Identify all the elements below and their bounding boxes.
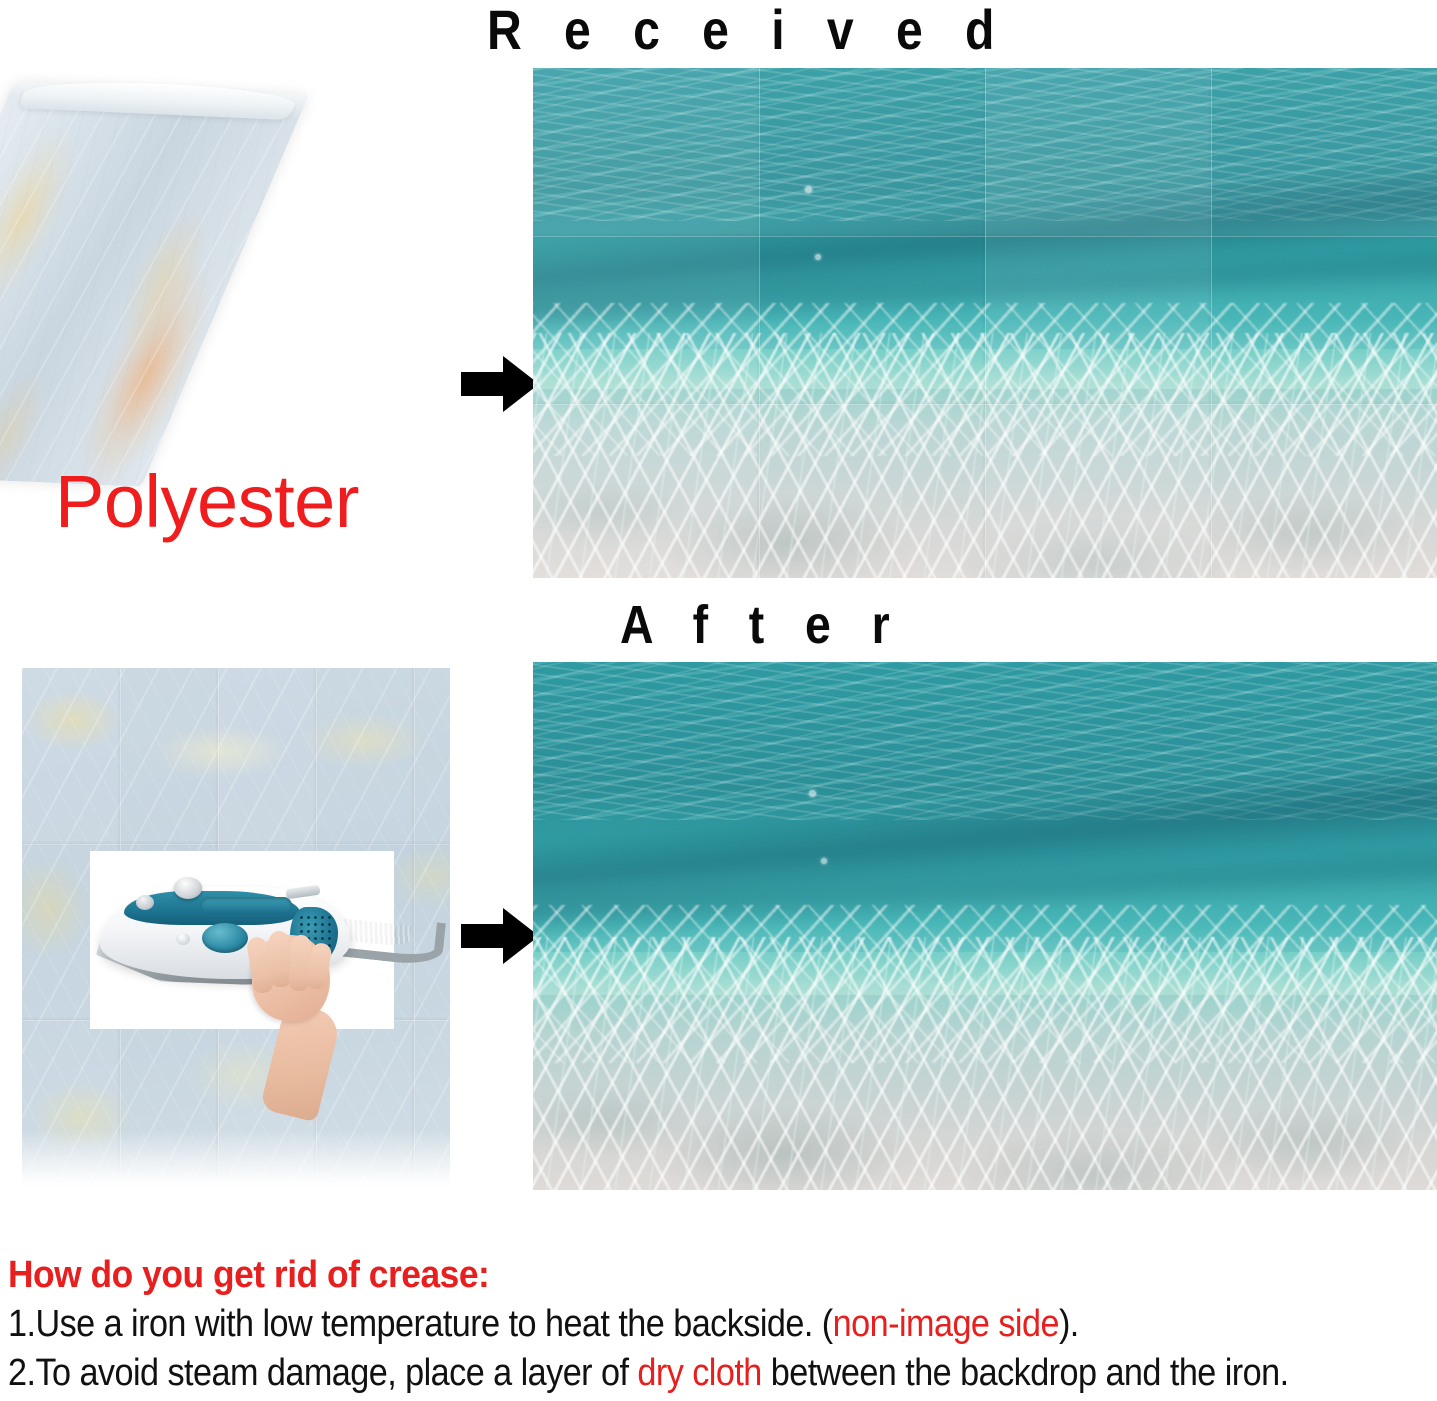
instruction-line-2-highlight: dry cloth xyxy=(637,1352,761,1394)
bubble-icon xyxy=(809,790,816,797)
iron-spray-button xyxy=(136,895,154,910)
instruction-line-1-suffix: ). xyxy=(1059,1303,1079,1345)
fabric-sheet xyxy=(0,82,309,487)
arrow-shaft xyxy=(461,372,509,396)
steam-iron-icon xyxy=(90,851,450,1061)
water-caustics-lower xyxy=(533,333,1437,578)
instruction-line-2: 2.To avoid steam damage, place a layer o… xyxy=(8,1350,1294,1396)
instruction-line-2-prefix: 2.To avoid steam damage, place a layer o… xyxy=(8,1352,637,1394)
arrow-shaft xyxy=(461,924,509,948)
bubble-icon xyxy=(815,254,821,260)
right-arrow-icon xyxy=(461,356,539,412)
page-title-received: R e c e i v e d xyxy=(487,0,1009,60)
page-title-after: A f t e r xyxy=(620,596,904,654)
instruction-line-1-prefix: 1.Use a iron with low temperature to hea… xyxy=(8,1303,833,1345)
bubble-icon xyxy=(805,186,812,193)
fabric-roll-image xyxy=(14,82,414,474)
instruction-line-1-highlight: non-image side xyxy=(833,1303,1059,1345)
hand-finger xyxy=(269,931,292,988)
iron-indicator-light xyxy=(176,933,190,945)
iron-handle-grip xyxy=(200,897,292,914)
bubble-icon xyxy=(821,858,827,864)
hand-icon xyxy=(228,935,354,1061)
polyester-material-label: Polyester xyxy=(55,462,359,542)
right-arrow-icon xyxy=(461,908,539,964)
instruction-line-1: 1.Use a iron with low temperature to hea… xyxy=(8,1301,1294,1347)
after-backdrop-photo xyxy=(533,662,1437,1190)
water-caustics-lower xyxy=(533,937,1437,1190)
iron-steam-knob xyxy=(174,877,202,899)
instruction-line-2-suffix: between the backdrop and the iron. xyxy=(762,1352,1289,1394)
instructions-heading: How do you get rid of crease: xyxy=(8,1252,1337,1298)
instructions-block: How do you get rid of crease: 1.Use a ir… xyxy=(8,1252,1437,1396)
received-backdrop-photo xyxy=(533,68,1437,578)
backdrop-bottom-fade xyxy=(22,1130,450,1190)
